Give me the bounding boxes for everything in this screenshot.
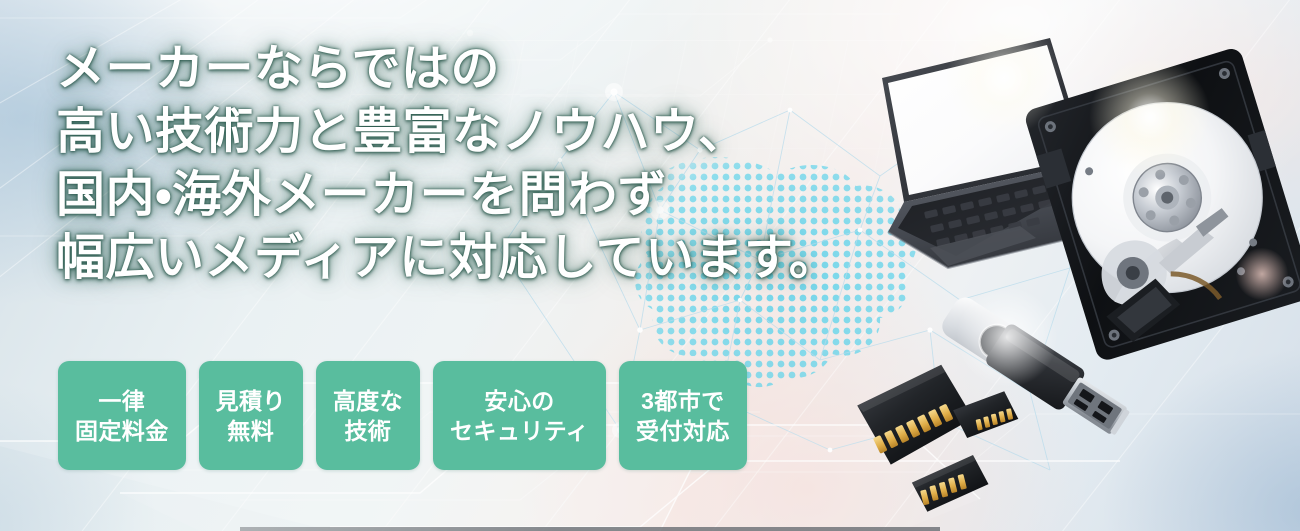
badge-security[interactable]: 安心の セキュリティ [433,361,606,470]
badge-free-quote[interactable]: 見積り 無料 [199,361,303,470]
headline-line-2: 高い技術力と豊富なノウハウ、 [56,101,838,164]
headline-line-4: 幅広いメディアに対応しています。 [56,227,838,290]
badge-advanced-tech[interactable]: 高度な 技術 [316,361,420,470]
badge-advanced-tech-line2: 技術 [345,416,392,446]
headline-line-1: メーカーならではの [56,38,838,101]
badge-flat-rate-line2: 固定料金 [75,416,169,446]
badge-advanced-tech-line1: 高度な [333,386,403,416]
badge-flat-rate-line1: 一律 [98,386,145,416]
headline-line-3: 国内・海外メーカーを問わず [56,164,838,227]
badge-three-cities-line1: 3都市で [641,386,724,416]
hero-banner: メーカーならではの 高い技術力と豊富なノウハウ、 国内・海外メーカーを問わず 幅… [0,0,1300,531]
badge-free-quote-line2: 無料 [227,416,274,446]
hero-headline: メーカーならではの 高い技術力と豊富なノウハウ、 国内・海外メーカーを問わず 幅… [56,38,838,290]
badge-flat-rate[interactable]: 一律 固定料金 [58,361,186,470]
badge-three-cities[interactable]: 3都市で 受付対応 [619,361,747,470]
feature-badge-list: 一律 固定料金 見積り 無料 高度な 技術 安心の セキュリティ 3都市で 受付… [58,361,747,470]
bottom-divider-rule [240,527,940,531]
badge-security-line2: セキュリティ [450,416,589,446]
badge-security-line1: 安心の [484,386,554,416]
badge-three-cities-line2: 受付対応 [636,416,730,446]
badge-free-quote-line1: 見積り [216,386,286,416]
background-bokeh-dot [1236,248,1288,300]
